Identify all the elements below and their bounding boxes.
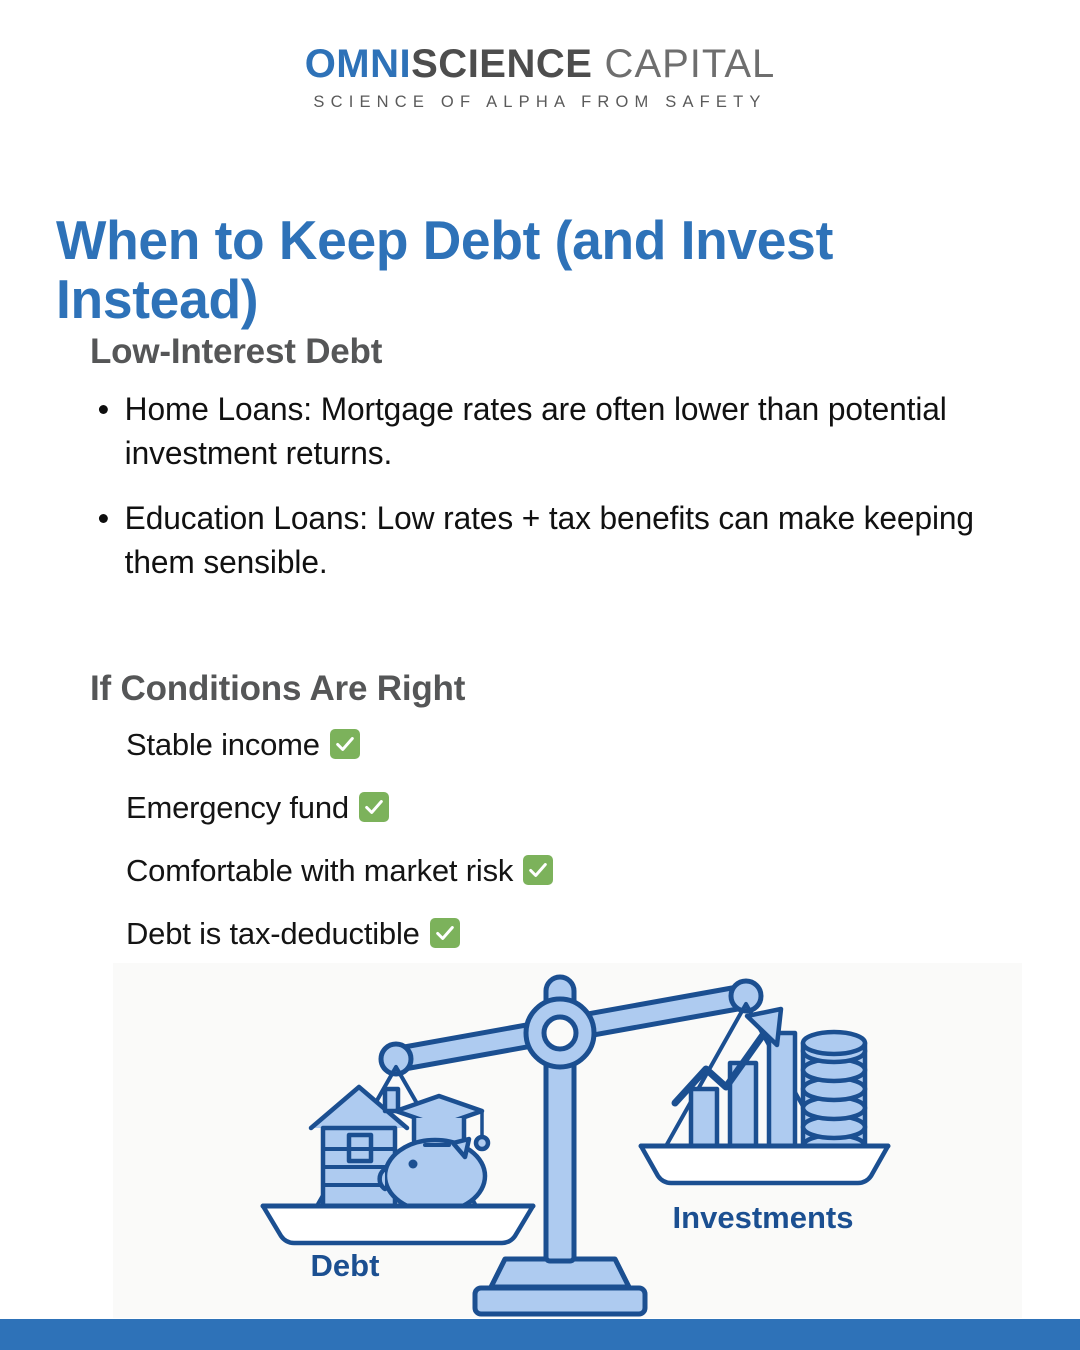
coin-stack-icon: [803, 1032, 865, 1157]
brand-logo: OMNISCIENCE CAPITAL SCIENCE OF ALPHA FRO…: [0, 44, 1080, 112]
page-title: When to Keep Debt (and Invest Instead): [56, 211, 1007, 330]
scale-base-bottom: [475, 1288, 645, 1314]
check-mark-icon: [430, 918, 460, 948]
check-mark-icon: [330, 729, 360, 759]
section-heading-if-conditions-are-right: If Conditions Are Right: [90, 669, 465, 709]
list-item: Stable income: [126, 723, 986, 765]
graduation-cap-icon-tassel-knot: [476, 1137, 488, 1149]
list-item: Home Loans: Mortgage rates are often low…: [92, 388, 1023, 475]
logo-text-capital: CAPITAL: [592, 42, 775, 86]
list-item: Debt is tax-deductible: [126, 912, 986, 954]
conditions-checklist: Stable income Emergency fund Comfortable…: [126, 723, 986, 975]
investments-pan-contents: [641, 1009, 888, 1183]
check-mark-icon: [523, 855, 553, 885]
debt-pan-label: Debt: [311, 1248, 380, 1283]
house-icon-chimney: [385, 1089, 398, 1111]
logo-text-omni: OMNI: [305, 42, 411, 86]
check-mark-icon: [359, 792, 389, 822]
logo-tagline: SCIENCE OF ALPHA FROM SAFETY: [0, 93, 1080, 112]
logo-text-science: SCIENCE: [411, 42, 592, 86]
bar-chart-icon-bar-3: [769, 1033, 795, 1146]
list-item: Emergency fund: [126, 786, 986, 828]
checklist-label: Emergency fund: [126, 792, 349, 823]
scale-pivot-inner: [544, 1017, 576, 1049]
bar-chart-icon-bar-1: [691, 1089, 717, 1146]
debt-pan: [263, 1206, 533, 1243]
footer-accent-bar: [0, 1319, 1080, 1350]
checklist-label: Comfortable with market risk: [126, 855, 513, 886]
piggy-bank-icon-eye: [409, 1160, 418, 1169]
investments-pan-label: Investments: [673, 1200, 854, 1235]
list-item: Education Loans: Low rates + tax benefit…: [92, 497, 1023, 584]
logo-wordmark: OMNISCIENCE CAPITAL: [0, 44, 1080, 84]
checklist-label: Debt is tax-deductible: [126, 918, 420, 949]
balance-scale-illustration: Debt: [113, 963, 1022, 1318]
list-item: Comfortable with market risk: [126, 849, 986, 891]
low-interest-debt-bullet-list: Home Loans: Mortgage rates are often low…: [92, 388, 1032, 606]
investments-pan: [641, 1146, 888, 1183]
section-heading-low-interest-debt: Low-Interest Debt: [90, 332, 382, 372]
debt-pan-contents: [263, 1087, 533, 1243]
piggy-bank-icon-body: [385, 1140, 485, 1212]
piggy-bank-icon-snout: [380, 1169, 385, 1189]
checklist-label: Stable income: [126, 729, 320, 760]
